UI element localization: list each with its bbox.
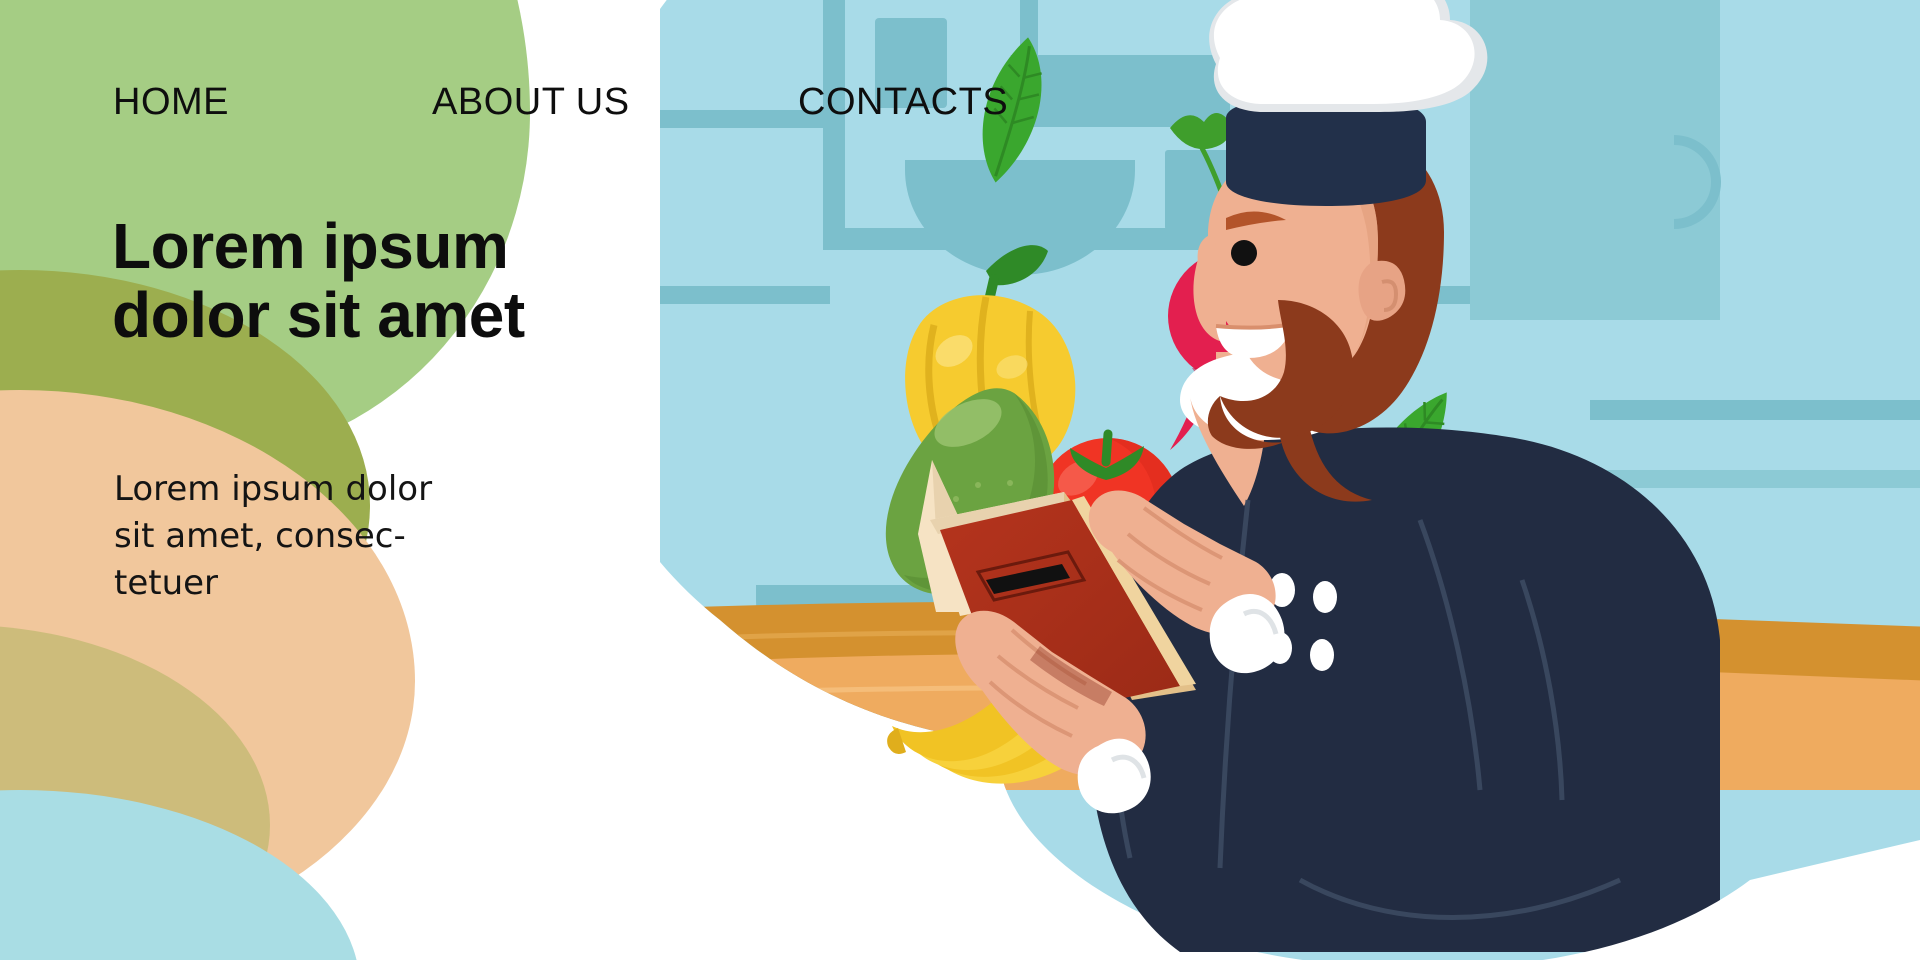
nav-item-home[interactable]: HOME (113, 78, 229, 126)
hero-body-line-1: Lorem ipsum dolor (114, 466, 524, 513)
hero-canvas: HOME ABOUT US CONTACTS Lorem ipsum dolor… (0, 0, 1920, 960)
nav-item-about-us[interactable]: ABOUT US (432, 78, 630, 126)
hero-body-text: Lorem ipsum dolor sit amet, consec- tetu… (114, 466, 524, 607)
top-navigation: HOME ABOUT US CONTACTS (0, 78, 1920, 134)
hero-body-line-2: sit amet, consec- (114, 513, 524, 560)
chef-illustration (660, 0, 1920, 960)
hero-heading-line-1: Lorem ipsum (112, 212, 632, 281)
hero-heading-line-2: dolor sit amet (112, 281, 632, 350)
hero-heading: Lorem ipsum dolor sit amet (112, 212, 632, 350)
nav-item-contacts[interactable]: CONTACTS (798, 78, 1008, 126)
chef-eye (1231, 240, 1257, 266)
hero-body-line-3: tetuer (114, 560, 524, 607)
